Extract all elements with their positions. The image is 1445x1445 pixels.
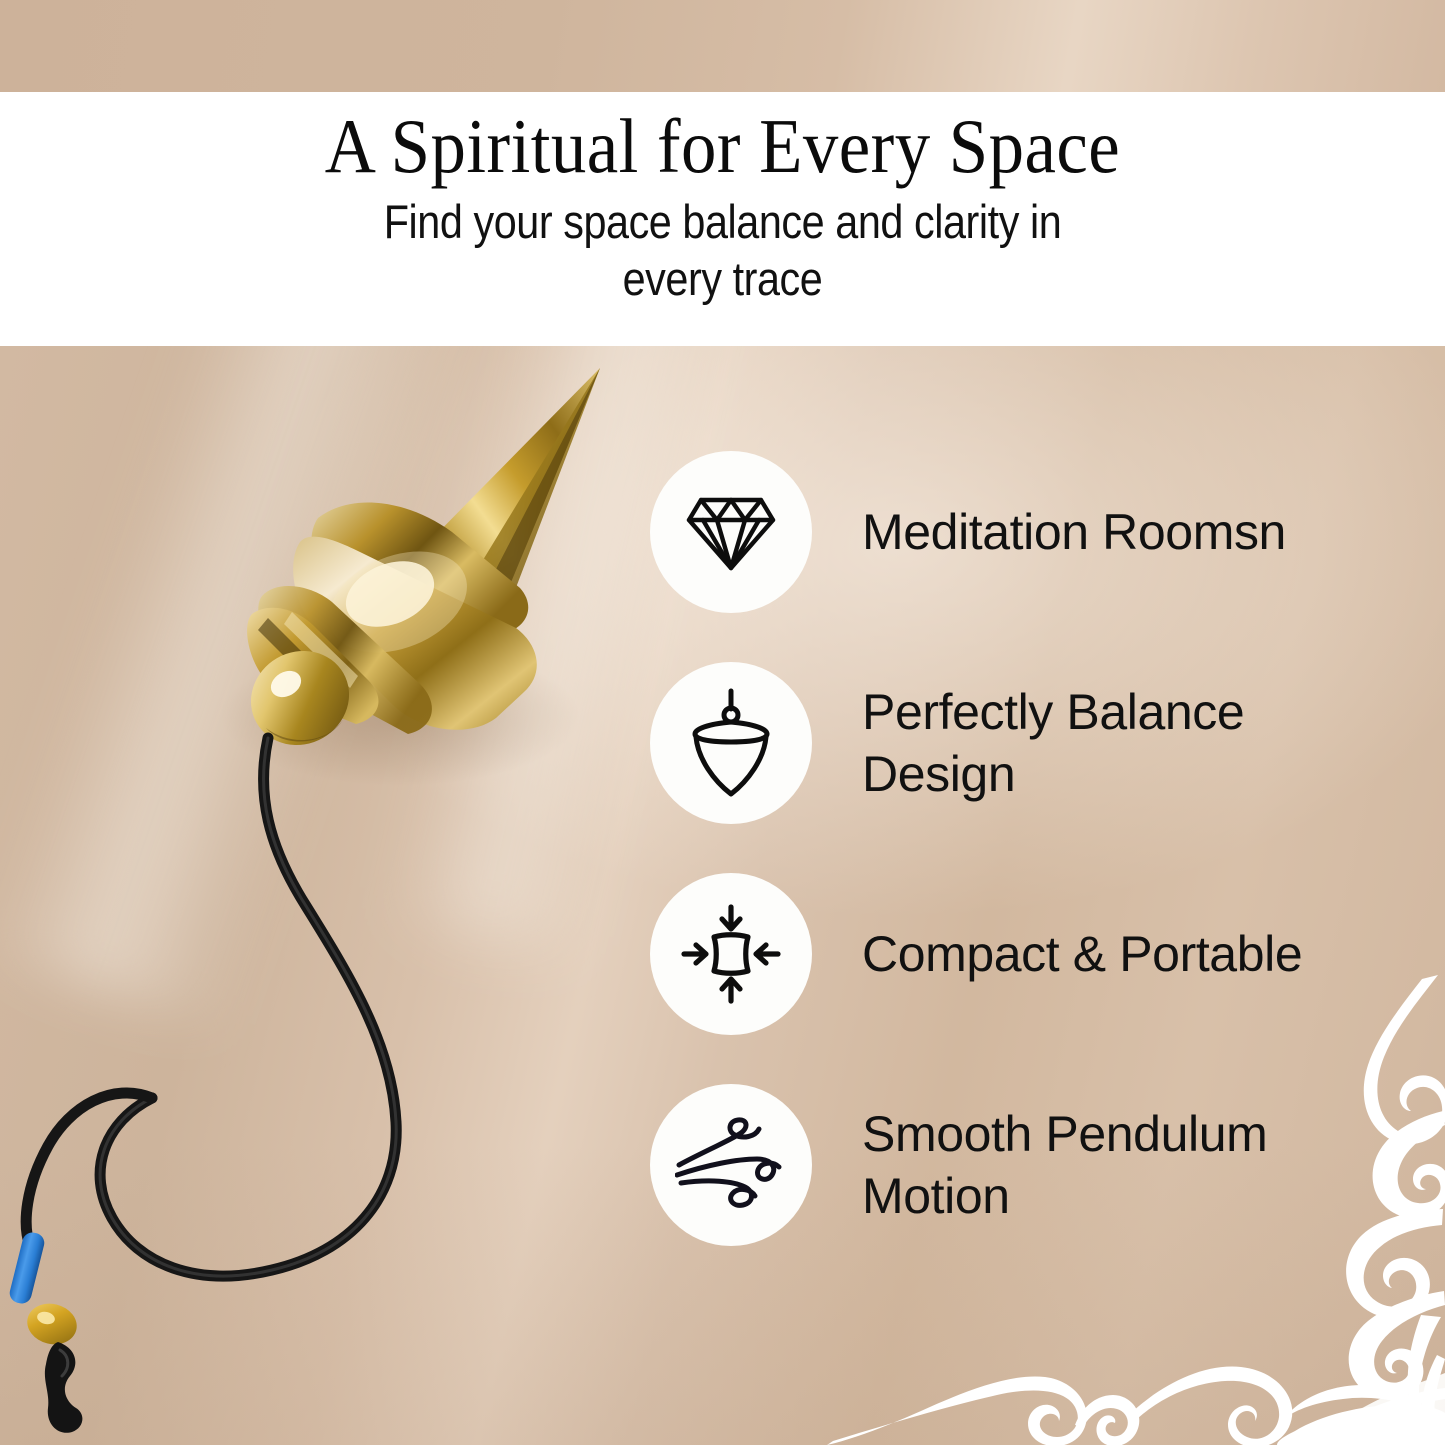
feature-list: Meditation Roomsn Perfectly Balance Desi… (650, 426, 1410, 1270)
subtitle-line-2: every trace (623, 252, 823, 305)
product-photo (0, 346, 720, 1445)
infographic-canvas: A Spiritual for Every Space Find your sp… (0, 0, 1445, 1445)
product-feature-panel: Meditation Roomsn Perfectly Balance Desi… (0, 346, 1445, 1445)
header-band: A Spiritual for Every Space Find your sp… (0, 92, 1445, 346)
subtitle-line-1: Find your space balance and clarity in (384, 195, 1062, 248)
wind-swirl-icon (675, 1117, 787, 1213)
diamond-icon (683, 488, 779, 576)
feature-label: Perfectly Balance Design (862, 681, 1332, 805)
feature-item[interactable]: Meditation Roomsn (650, 426, 1410, 637)
feature-item[interactable]: Smooth Pendulum Motion (650, 1059, 1410, 1270)
gold-bead (23, 1299, 81, 1350)
feature-icon-badge (650, 662, 812, 824)
feature-label: Smooth Pendulum Motion (862, 1103, 1332, 1227)
feature-icon-badge (650, 451, 812, 613)
feature-item[interactable]: Compact & Portable (650, 848, 1410, 1059)
black-cord-highlight (100, 738, 396, 1276)
pendulum-icon (688, 687, 774, 799)
cord-knot (45, 1342, 83, 1433)
feature-label: Compact & Portable (862, 923, 1302, 985)
top-beige-strip (0, 0, 1445, 92)
black-cord (100, 738, 396, 1276)
blue-sleeve (8, 1230, 47, 1305)
page-subtitle: Find your space balance and clarity in e… (87, 187, 1359, 308)
feature-label: Meditation Roomsn (862, 501, 1286, 563)
feature-item[interactable]: Perfectly Balance Design (650, 637, 1410, 848)
feature-icon-badge (650, 1084, 812, 1246)
compress-arrows-icon (680, 903, 782, 1005)
feature-icon-badge (650, 873, 812, 1035)
page-title: A Spiritual for Every Space (58, 92, 1387, 187)
